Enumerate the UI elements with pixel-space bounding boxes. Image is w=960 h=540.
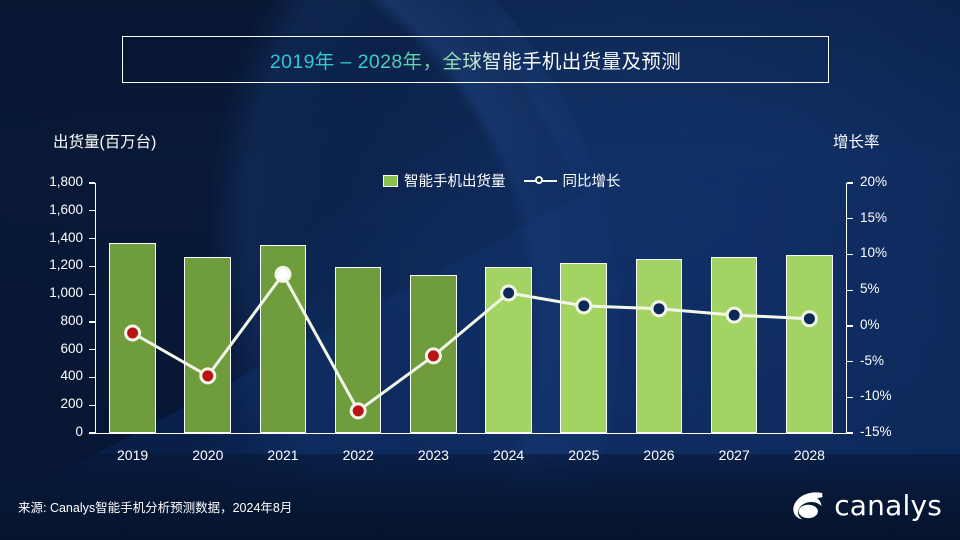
legend-line-label: 同比增长 bbox=[563, 170, 621, 191]
y-axis-tick-label: 1,800 bbox=[27, 174, 83, 189]
y-axis-tick bbox=[89, 377, 95, 378]
y-axis-tick bbox=[89, 182, 95, 183]
y-axis-tick-label: 400 bbox=[27, 368, 83, 383]
bar-2027[interactable] bbox=[711, 257, 758, 433]
y-axis-tick-label: 1,600 bbox=[27, 202, 83, 217]
left-axis-title: 出货量(百万台) bbox=[53, 130, 156, 152]
canalys-swoosh-icon bbox=[791, 491, 825, 521]
y2-axis-tick bbox=[847, 397, 853, 398]
y-axis-tick bbox=[89, 432, 95, 433]
y-axis-tick bbox=[89, 321, 95, 322]
y2-axis-tick-label: 0% bbox=[860, 317, 880, 332]
y-axis-tick bbox=[89, 405, 95, 406]
page-title: 2019年 – 2028年，全球智能手机出货量及预测 bbox=[270, 45, 681, 74]
bar-2019[interactable] bbox=[109, 243, 156, 433]
y2-axis-tick bbox=[847, 182, 853, 183]
y-axis-tick-label: 800 bbox=[27, 313, 83, 328]
canalys-wordmark: canalys bbox=[834, 489, 942, 522]
y2-axis-tick bbox=[847, 290, 853, 291]
y2-axis-tick-label: -10% bbox=[860, 388, 892, 403]
y-axis-tick-label: 1,000 bbox=[27, 285, 83, 300]
bar-2021[interactable] bbox=[260, 245, 307, 433]
y2-axis-tick-label: 5% bbox=[860, 281, 880, 296]
y-axis-tick bbox=[89, 238, 95, 239]
y-axis-tick bbox=[89, 294, 95, 295]
y2-axis-tick-label: -15% bbox=[860, 424, 892, 439]
right-axis-title: 增长率 bbox=[833, 130, 880, 152]
legend-bar-label: 智能手机出货量 bbox=[404, 170, 506, 191]
y-axis-left-line bbox=[95, 183, 96, 434]
y2-axis-tick bbox=[847, 325, 853, 326]
bar-2028[interactable] bbox=[786, 255, 833, 433]
y2-axis-tick-label: 20% bbox=[860, 174, 887, 189]
y-axis-tick bbox=[89, 210, 95, 211]
bar-2023[interactable] bbox=[410, 275, 457, 433]
y2-axis-tick-label: -5% bbox=[860, 353, 884, 368]
bar-2020[interactable] bbox=[184, 257, 231, 433]
source-note: 来源: Canalys智能手机分析预测数据，2024年8月 bbox=[18, 497, 292, 516]
chart-title-box: 2019年 – 2028年，全球智能手机出货量及预测 bbox=[122, 36, 829, 83]
y-axis-tick-label: 0 bbox=[27, 424, 83, 439]
y2-axis-tick bbox=[847, 432, 853, 433]
legend-line-marker-icon bbox=[524, 175, 557, 187]
y-axis-tick-label: 1,200 bbox=[27, 257, 83, 272]
y2-axis-tick-label: 15% bbox=[860, 210, 887, 225]
legend-item-shipments[interactable]: 智能手机出货量 bbox=[383, 170, 506, 191]
y-axis-tick-label: 1,400 bbox=[27, 230, 83, 245]
bar-2025[interactable] bbox=[560, 263, 607, 433]
y2-axis-tick bbox=[847, 361, 853, 362]
bar-2026[interactable] bbox=[636, 259, 683, 433]
chart-canvas: 2019年 – 2028年，全球智能手机出货量及预测 出货量(百万台) 增长率 … bbox=[0, 0, 960, 540]
legend-item-growth[interactable]: 同比增长 bbox=[524, 170, 621, 191]
x-axis-line bbox=[95, 433, 847, 434]
y-axis-tick-label: 200 bbox=[27, 396, 83, 411]
y2-axis-tick bbox=[847, 254, 853, 255]
y-axis-tick bbox=[89, 349, 95, 350]
y-axis-tick bbox=[89, 266, 95, 267]
bar-2022[interactable] bbox=[335, 267, 382, 433]
chart-legend: 智能手机出货量 同比增长 bbox=[383, 170, 621, 191]
legend-bar-swatch-icon bbox=[383, 175, 398, 187]
bar-2024[interactable] bbox=[485, 267, 532, 433]
y2-axis-tick bbox=[847, 218, 853, 219]
y-axis-tick-label: 600 bbox=[27, 341, 83, 356]
y2-axis-tick-label: 10% bbox=[860, 245, 887, 260]
x-axis-label-2028: 2028 bbox=[764, 447, 854, 463]
canalys-logo: canalys bbox=[791, 489, 942, 522]
